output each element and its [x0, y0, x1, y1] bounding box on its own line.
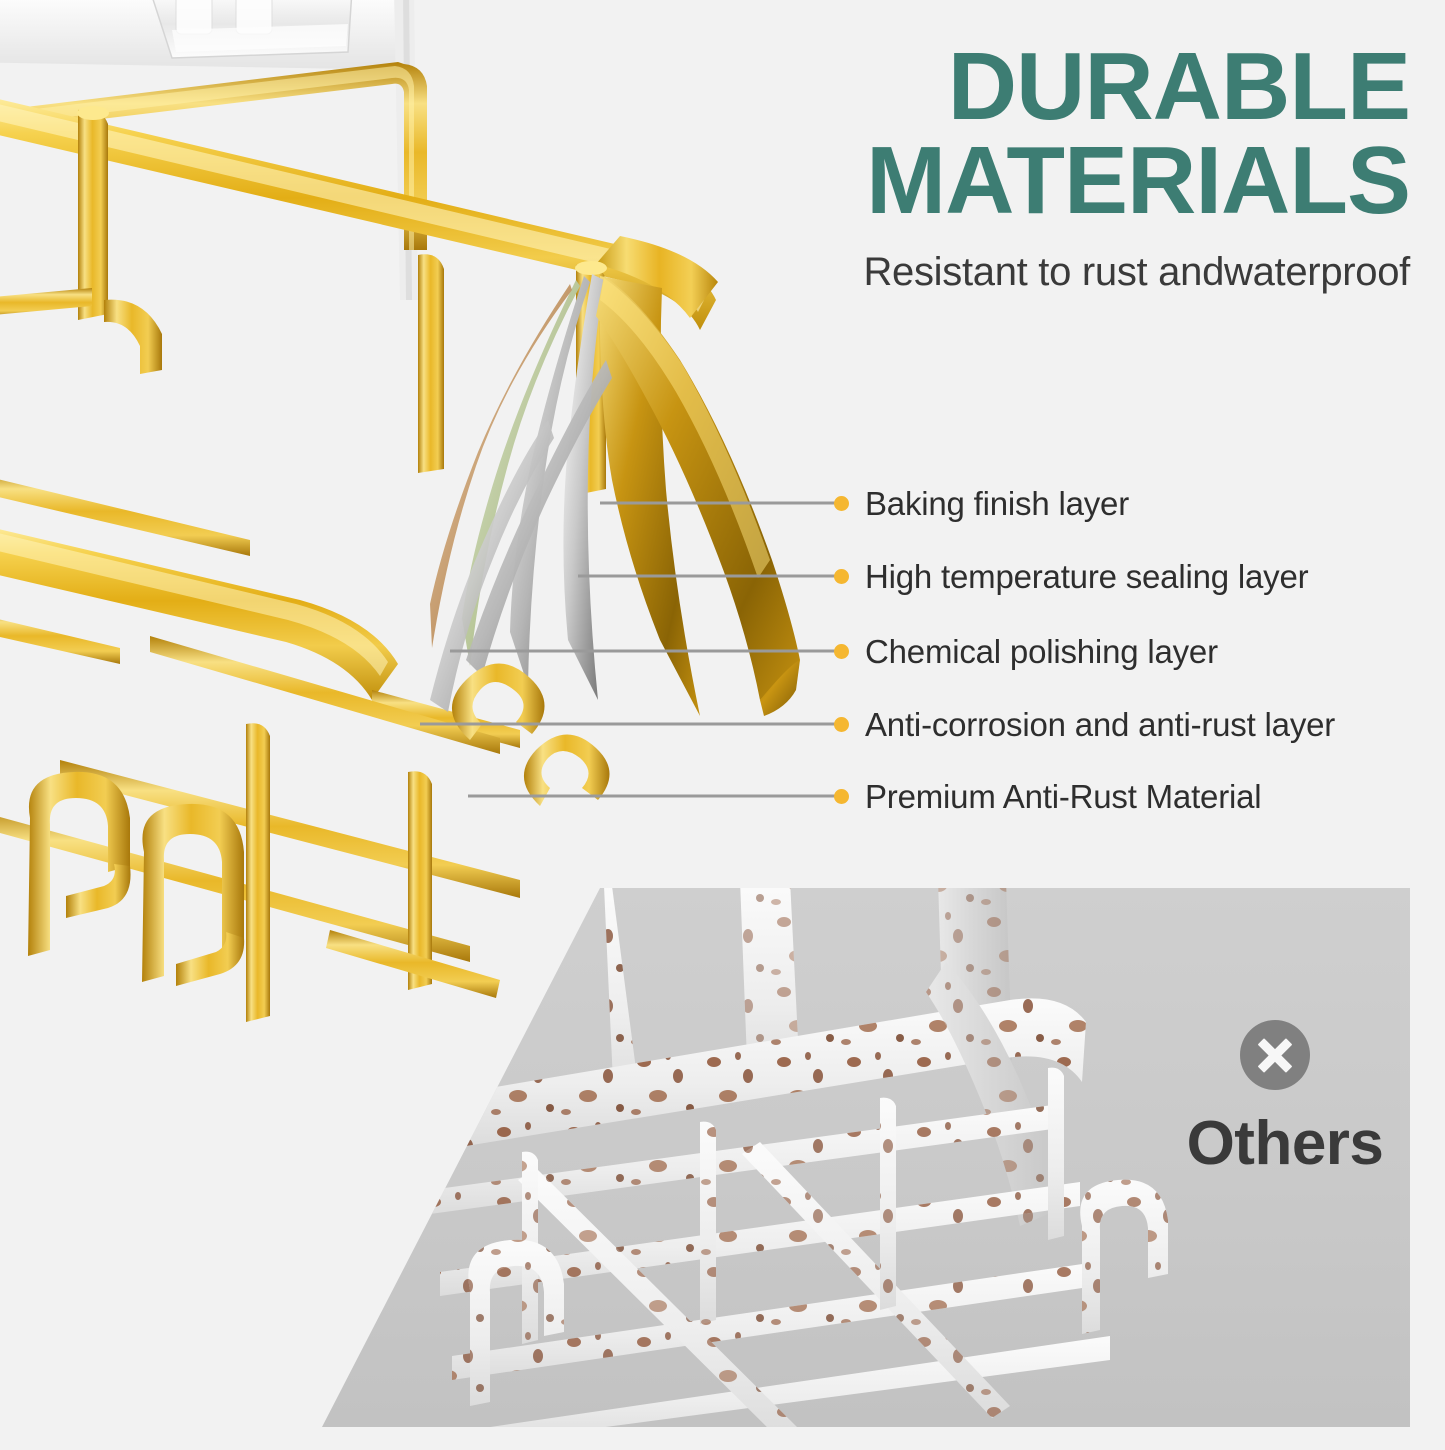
others-label: Others	[1160, 1108, 1410, 1179]
comparison-svg	[0, 0, 1445, 1445]
comparison-section: Others	[0, 0, 1445, 1445]
others-cross-icon	[1240, 1020, 1310, 1090]
infographic-canvas: DURABLE MATERIALS Resistant to rust andw…	[0, 0, 1445, 1445]
